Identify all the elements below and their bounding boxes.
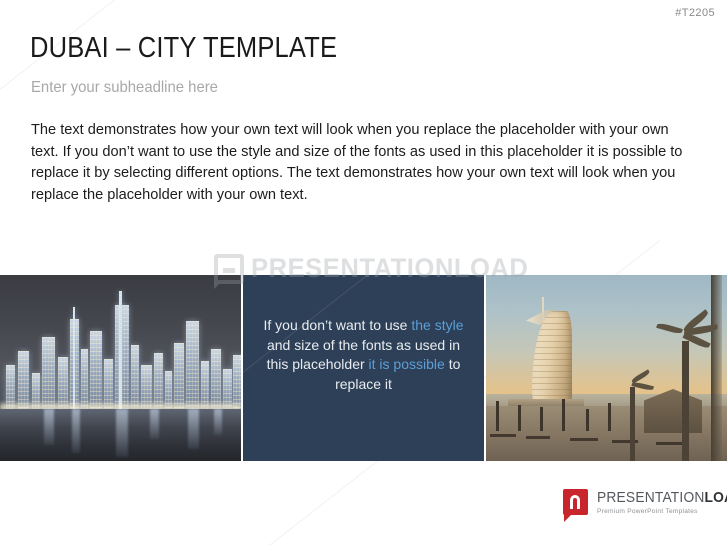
subheadline: Enter your subheadline here — [31, 78, 218, 98]
palm-tree-trunk — [682, 341, 689, 461]
logo-name-light: PRESENTATION — [597, 489, 705, 506]
logo-speech-bubble-icon — [563, 489, 588, 515]
burj-al-arab-building — [522, 297, 574, 405]
palm-tree-trunk — [711, 275, 722, 461]
presentationload-logo[interactable]: PRESENTATIONLOAD® Premium PowerPoint Tem… — [563, 489, 727, 515]
page-title: DUBAI – CITY TEMPLATE — [30, 31, 337, 65]
photo-burj-al-arab-sunset — [486, 275, 727, 461]
image-band: If you don’t want to use the style and s… — [0, 275, 727, 461]
slide-canvas: #T2205 DUBAI – CITY TEMPLATE Enter your … — [0, 0, 727, 545]
logo-name: PRESENTATIONLOAD® — [597, 489, 727, 506]
photo-dubai-marina-night — [0, 275, 241, 461]
logo-wordmark: PRESENTATIONLOAD® Premium PowerPoint Tem… — [597, 489, 727, 515]
middle-text-highlight-2: it is possible — [369, 356, 445, 372]
middle-text-panel: If you don’t want to use the style and s… — [243, 275, 484, 461]
middle-panel-text: If you don’t want to use the style and s… — [259, 316, 468, 394]
middle-text-segment-1: If you don’t want to use — [263, 317, 411, 333]
body-paragraph: The text demonstrates how your own text … — [31, 120, 696, 206]
palm-tree-trunk — [630, 387, 635, 461]
middle-text-highlight-1: the style — [411, 317, 463, 333]
logo-tagline: Premium PowerPoint Templates — [597, 508, 727, 515]
template-id-label: #T2205 — [675, 7, 715, 19]
logo-name-bold: LOAD — [705, 489, 727, 506]
